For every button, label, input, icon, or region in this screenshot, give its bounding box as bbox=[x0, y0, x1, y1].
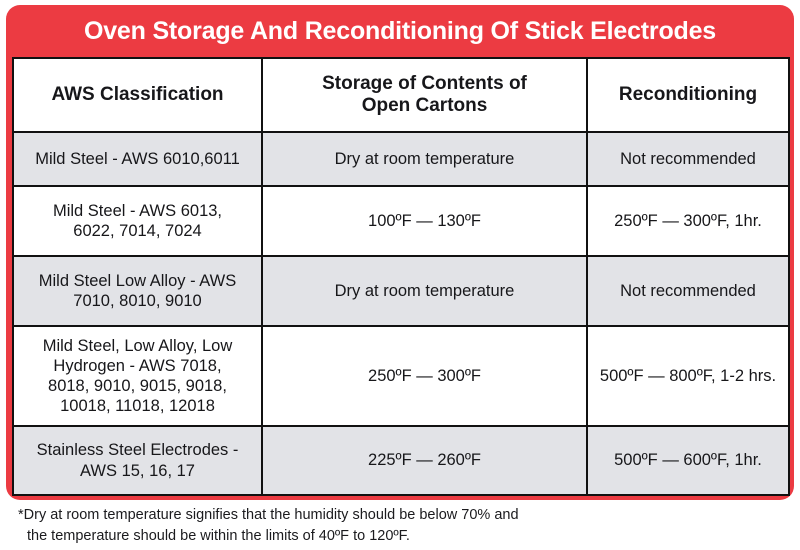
cell-line: Dry at room temperature bbox=[269, 149, 580, 169]
header-line-1: AWS Classification bbox=[20, 84, 255, 106]
cell-storage: Dry at room temperature bbox=[262, 256, 587, 326]
cell-storage: 250ºF — 300ºF bbox=[262, 326, 587, 426]
header-line-1: Storage of Contents of bbox=[269, 73, 580, 95]
cell-line: 100ºF — 130ºF bbox=[269, 211, 580, 231]
cell-line: 500ºF — 800ºF, 1-2 hrs. bbox=[594, 366, 782, 386]
header-line-2: Open Cartons bbox=[269, 95, 580, 117]
cell-line: 500ºF — 600ºF, 1hr. bbox=[594, 450, 782, 470]
cell-line: 8018, 9010, 9015, 9018, bbox=[20, 376, 255, 396]
table-row: Mild Steel - AWS 6013, 6022, 7014, 7024 … bbox=[13, 186, 789, 256]
table-body: Mild Steel - AWS 6010,6011 Dry at room t… bbox=[13, 132, 789, 495]
column-header-reconditioning: Reconditioning bbox=[587, 58, 789, 132]
cell-classification: Mild Steel - AWS 6013, 6022, 7014, 7024 bbox=[13, 186, 262, 256]
cell-line: Stainless Steel Electrodes - bbox=[20, 440, 255, 460]
cell-line: Not recommended bbox=[594, 281, 782, 301]
cell-line: Not recommended bbox=[594, 149, 782, 169]
cell-classification: Stainless Steel Electrodes - AWS 15, 16,… bbox=[13, 426, 262, 495]
cell-line: Mild Steel - AWS 6010,6011 bbox=[20, 149, 255, 169]
column-header-aws-classification: AWS Classification bbox=[13, 58, 262, 132]
cell-reconditioning: Not recommended bbox=[587, 256, 789, 326]
page-title: Oven Storage And Reconditioning Of Stick… bbox=[6, 5, 794, 57]
cell-classification: Mild Steel Low Alloy - AWS 7010, 8010, 9… bbox=[13, 256, 262, 326]
cell-classification: Mild Steel - AWS 6010,6011 bbox=[13, 132, 262, 186]
table-header-row: AWS Classification Storage of Contents o… bbox=[13, 58, 789, 132]
header-line-1: Reconditioning bbox=[594, 84, 782, 106]
cell-line: Hydrogen - AWS 7018, bbox=[20, 356, 255, 376]
table-row: Mild Steel - AWS 6010,6011 Dry at room t… bbox=[13, 132, 789, 186]
footnote-line-2: the temperature should be within the lim… bbox=[18, 526, 778, 547]
cell-reconditioning: 500ºF — 800ºF, 1-2 hrs. bbox=[587, 326, 789, 426]
table-row: Stainless Steel Electrodes - AWS 15, 16,… bbox=[13, 426, 789, 495]
cell-reconditioning: 250ºF — 300ºF, 1hr. bbox=[587, 186, 789, 256]
cell-reconditioning: 500ºF — 600ºF, 1hr. bbox=[587, 426, 789, 495]
cell-storage: 225ºF — 260ºF bbox=[262, 426, 587, 495]
cell-line: 10018, 11018, 12018 bbox=[20, 396, 255, 416]
cell-storage: Dry at room temperature bbox=[262, 132, 587, 186]
cell-line: 7010, 8010, 9010 bbox=[20, 291, 255, 311]
cell-line: Mild Steel Low Alloy - AWS bbox=[20, 271, 255, 291]
table-container: AWS Classification Storage of Contents o… bbox=[12, 57, 788, 494]
cell-line: Dry at room temperature bbox=[269, 281, 580, 301]
cell-reconditioning: Not recommended bbox=[587, 132, 789, 186]
cell-line: 250ºF — 300ºF bbox=[269, 366, 580, 386]
table-row: Mild Steel Low Alloy - AWS 7010, 8010, 9… bbox=[13, 256, 789, 326]
cell-line: 6022, 7014, 7024 bbox=[20, 221, 255, 241]
cell-line: Mild Steel - AWS 6013, bbox=[20, 201, 255, 221]
column-header-storage-open-cartons: Storage of Contents of Open Cartons bbox=[262, 58, 587, 132]
cell-line: 250ºF — 300ºF, 1hr. bbox=[594, 211, 782, 231]
electrode-storage-table: AWS Classification Storage of Contents o… bbox=[12, 57, 790, 496]
cell-line: 225ºF — 260ºF bbox=[269, 450, 580, 470]
table-row: Mild Steel, Low Alloy, Low Hydrogen - AW… bbox=[13, 326, 789, 426]
cell-classification: Mild Steel, Low Alloy, Low Hydrogen - AW… bbox=[13, 326, 262, 426]
cell-storage: 100ºF — 130ºF bbox=[262, 186, 587, 256]
footnote: *Dry at room temperature signifies that … bbox=[18, 505, 778, 547]
footnote-line-1: *Dry at room temperature signifies that … bbox=[18, 505, 778, 526]
table-card: Oven Storage And Reconditioning Of Stick… bbox=[6, 5, 794, 500]
cell-line: AWS 15, 16, 17 bbox=[20, 461, 255, 481]
cell-line: Mild Steel, Low Alloy, Low bbox=[20, 336, 255, 356]
infographic-page: Oven Storage And Reconditioning Of Stick… bbox=[0, 0, 800, 550]
table-head: AWS Classification Storage of Contents o… bbox=[13, 58, 789, 132]
